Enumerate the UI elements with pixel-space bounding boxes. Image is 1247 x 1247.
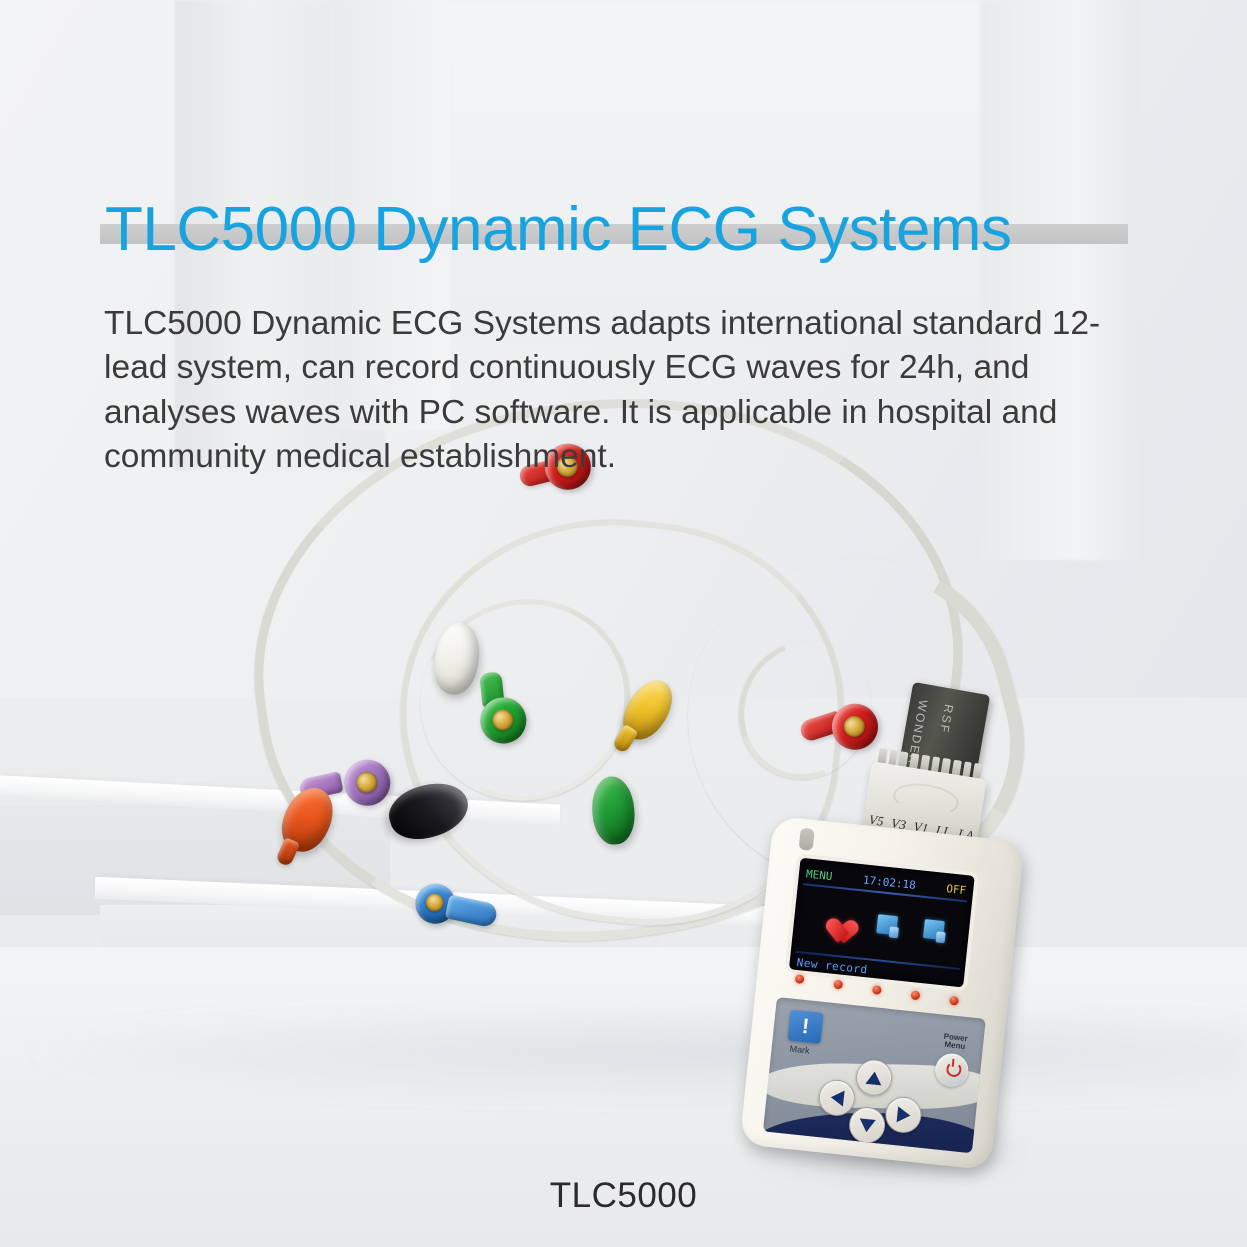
product-description: TLC5000 Dynamic ECG Systems adapts inter… [104,302,1124,480]
nav-left-button[interactable] [817,1078,857,1118]
mark-button[interactable]: ! [788,1010,824,1044]
exclamation-icon: ! [801,1016,810,1038]
arrow-down-icon [858,1118,875,1133]
device-keypad: ! Mark Power Menu [763,997,986,1153]
heart-icon[interactable] [819,904,852,934]
lcd-menu-label: MENU [805,867,833,883]
nav-right-button[interactable] [884,1095,924,1135]
device-lcd-screen[interactable]: MENU 17:02:18 OFF New record [789,858,975,988]
led-indicator [949,996,959,1006]
led-indicator [795,974,805,984]
mark-button-label: Mark [789,1044,810,1056]
nav-up-button[interactable] [854,1058,894,1098]
lcd-battery-label: OFF [946,882,967,897]
led-indicator [910,990,920,1000]
document-icon[interactable] [923,919,945,940]
product-banner: WONDER RSF V5 V3 V1 LL LA MENU 17: [0,0,1247,1247]
ecg-recorder-device: MENU 17:02:18 OFF New record [739,816,1024,1171]
arrow-left-icon [829,1089,844,1106]
led-indicator [872,985,882,995]
navigation-dpad [815,1054,927,1142]
lcd-clock: 17:02:18 [862,873,916,891]
page-title: TLC5000 Dynamic ECG Systems [105,197,1165,262]
arrow-right-icon [896,1106,911,1123]
device-top-notch [799,828,815,851]
plug-ridge [891,779,961,819]
product-photo: WONDER RSF V5 V3 V1 LL LA MENU 17: [0,0,1247,1247]
power-button-label: Power Menu [942,1033,968,1052]
ferrite-model-text: RSF [937,703,956,735]
arrow-up-icon [865,1070,882,1085]
product-caption: TLC5000 [0,1176,1247,1216]
led-indicator [833,979,843,989]
document-icon[interactable] [876,914,898,935]
power-label-line2: Menu [944,1040,966,1051]
